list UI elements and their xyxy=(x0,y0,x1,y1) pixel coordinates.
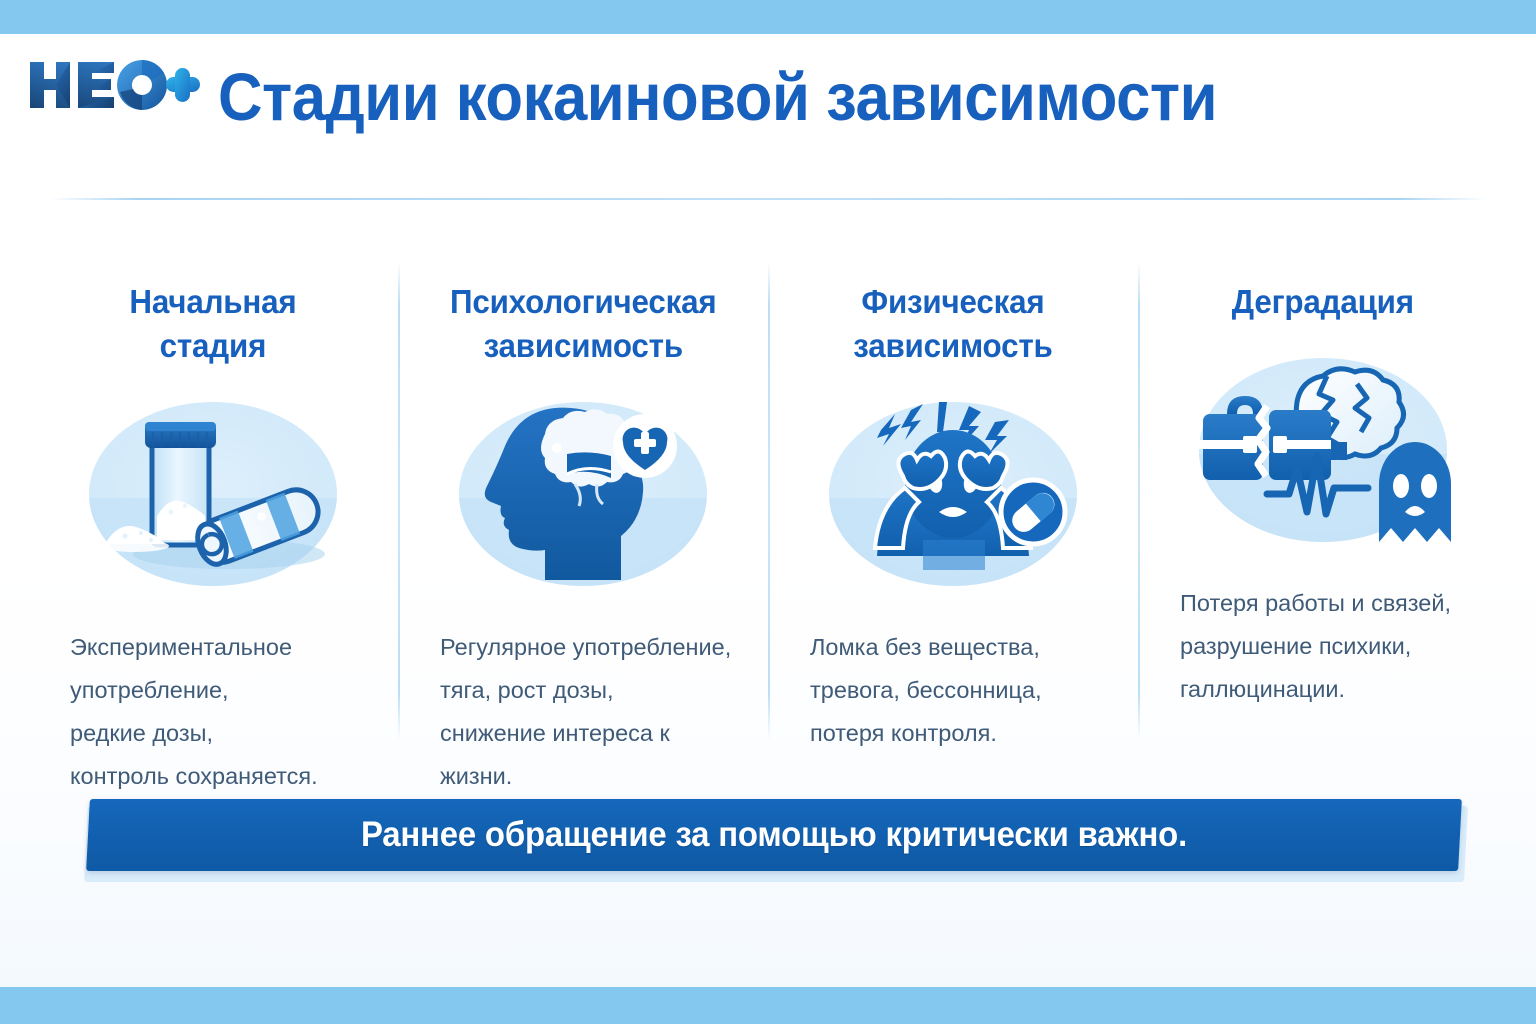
desc-line: разрушение психики, xyxy=(1180,633,1411,659)
stage-title-line: Начальная xyxy=(129,283,296,320)
stage-column-degradation: Деградация xyxy=(1138,234,1508,794)
stage-description: Ломка без вещества, тревога, бессонница,… xyxy=(786,626,1046,755)
stage-title: Психологическая зависимость xyxy=(450,280,716,368)
desc-line: потеря контроля. xyxy=(810,720,997,746)
stage-description: Экспериментальное употребление, редкие д… xyxy=(46,626,322,798)
desc-line: Ломка без вещества, xyxy=(810,634,1040,660)
stage-title-line: Физическая xyxy=(861,283,1044,320)
callout-banner-text: Раннее обращение за помощью критически в… xyxy=(129,799,1419,871)
desc-line: контроль сохраняется. xyxy=(70,763,318,789)
stage-title: Физическая зависимость xyxy=(853,280,1052,368)
desc-line: тревога, бессонница, xyxy=(810,677,1042,703)
desc-line: употребление, xyxy=(70,677,229,703)
pill-bottle-powder-rolled-note-icon xyxy=(79,388,347,602)
desc-line: галлюцинации. xyxy=(1180,676,1345,702)
broken-briefcase-cracked-brain-ghost-icon xyxy=(1189,344,1457,558)
bottom-accent-band xyxy=(0,987,1536,1024)
stage-title-line: стадия xyxy=(160,327,267,364)
desc-line: Экспериментальное xyxy=(70,634,292,660)
desc-line: снижение интереса к жизни. xyxy=(440,720,670,789)
stage-column-psychological: Психологическая зависимость xyxy=(398,234,768,794)
stage-title-line: Деградация xyxy=(1232,283,1414,320)
header: Стадии кокаиновой зависимости xyxy=(0,34,1536,198)
distressed-person-headache-pill-icon xyxy=(819,388,1087,602)
top-accent-band xyxy=(0,0,1536,34)
stage-column-initial: Начальная стадия xyxy=(28,234,398,794)
head-brain-heart-plus-icon xyxy=(449,388,717,602)
stage-title-line: Психологическая xyxy=(450,283,716,320)
infographic-poster: Стадии кокаиновой зависимости Начальная … xyxy=(0,0,1536,1024)
stage-column-physical: Физическая зависимость xyxy=(768,234,1138,794)
stage-title: Деградация xyxy=(1232,280,1414,324)
stage-title-line: зависимость xyxy=(483,327,682,364)
desc-line: редкие дозы, xyxy=(70,720,213,746)
neo-plus-logo xyxy=(26,54,202,116)
stage-title-line: зависимость xyxy=(853,327,1052,364)
desc-line: тяга, рост дозы, xyxy=(440,677,614,703)
desc-line: Регулярное употребление, xyxy=(440,634,731,660)
stage-description: Регулярное употребление, тяга, рост дозы… xyxy=(416,626,744,798)
content-card: Стадии кокаиновой зависимости Начальная … xyxy=(0,34,1536,987)
desc-line: Потеря работы и связей, xyxy=(1180,590,1451,616)
page-title: Стадии кокаиновой зависимости xyxy=(218,42,1396,154)
stages-row: Начальная стадия xyxy=(28,234,1508,794)
header-divider xyxy=(50,198,1486,200)
stage-title: Начальная стадия xyxy=(129,280,296,368)
stage-description: Потеря работы и связей, разрушение психи… xyxy=(1156,582,1455,711)
